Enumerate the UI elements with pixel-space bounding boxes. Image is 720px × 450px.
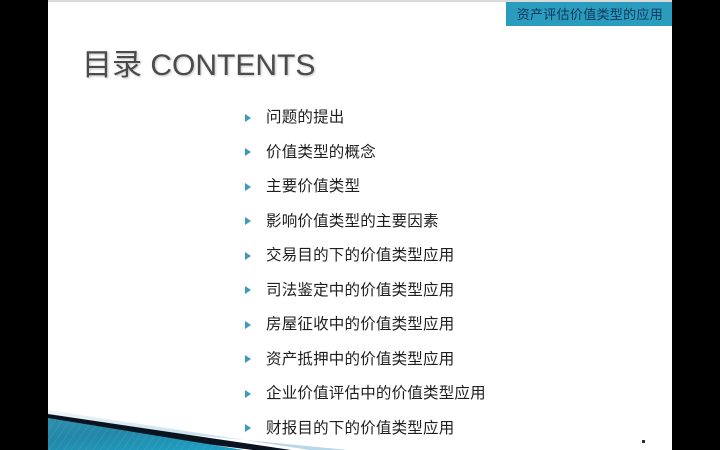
triangle-right-icon xyxy=(244,148,252,157)
triangle-right-icon xyxy=(244,390,252,399)
list-item[interactable]: 问题的提出 xyxy=(244,101,664,136)
triangle-right-icon xyxy=(244,252,252,261)
page-mark xyxy=(642,440,645,443)
page-title: 目录 CONTENTS xyxy=(82,48,315,84)
list-item[interactable]: 房屋征收中的价值类型应用 xyxy=(244,308,664,343)
triangle-right-icon xyxy=(244,355,252,364)
triangle-right-icon xyxy=(244,114,252,123)
contents-list: 问题的提出 价值类型的概念 主要价值类型 影响价值类型的主要因素 交易目的下的价… xyxy=(244,101,664,446)
header-banner: 资产评估价值类型的应用 xyxy=(506,2,672,26)
triangle-right-icon xyxy=(244,286,252,295)
list-item-label: 影响价值类型的主要因素 xyxy=(266,213,439,231)
list-item[interactable]: 财报目的下的价值类型应用 xyxy=(244,412,664,447)
list-item[interactable]: 影响价值类型的主要因素 xyxy=(244,205,664,240)
list-item[interactable]: 司法鉴定中的价值类型应用 xyxy=(244,274,664,309)
list-item-label: 房屋征收中的价值类型应用 xyxy=(266,316,454,334)
list-item[interactable]: 价值类型的概念 xyxy=(244,136,664,171)
list-item[interactable]: 交易目的下的价值类型应用 xyxy=(244,239,664,274)
screen: 资产评估价值类型的应用 目录 CONTENTS 问题的提出 价值类型的概念 主要… xyxy=(0,0,720,450)
triangle-right-icon xyxy=(244,183,252,192)
list-item-label: 资产抵押中的价值类型应用 xyxy=(266,351,454,369)
triangle-right-icon xyxy=(244,424,252,433)
header-banner-label: 资产评估价值类型的应用 xyxy=(517,8,663,21)
triangle-right-icon xyxy=(244,321,252,330)
list-item-label: 企业价值评估中的价值类型应用 xyxy=(266,385,486,403)
list-item[interactable]: 资产抵押中的价值类型应用 xyxy=(244,343,664,378)
list-item-label: 司法鉴定中的价值类型应用 xyxy=(266,282,454,300)
presentation-slide: 资产评估价值类型的应用 目录 CONTENTS 问题的提出 价值类型的概念 主要… xyxy=(48,0,672,450)
list-item-label: 财报目的下的价值类型应用 xyxy=(266,420,454,438)
list-item[interactable]: 企业价值评估中的价值类型应用 xyxy=(244,377,664,412)
list-item[interactable]: 主要价值类型 xyxy=(244,170,664,205)
list-item-label: 价值类型的概念 xyxy=(266,144,376,162)
list-item-label: 问题的提出 xyxy=(266,109,345,127)
list-item-label: 交易目的下的价值类型应用 xyxy=(266,247,454,265)
triangle-right-icon xyxy=(244,217,252,226)
list-item-label: 主要价值类型 xyxy=(266,178,360,196)
